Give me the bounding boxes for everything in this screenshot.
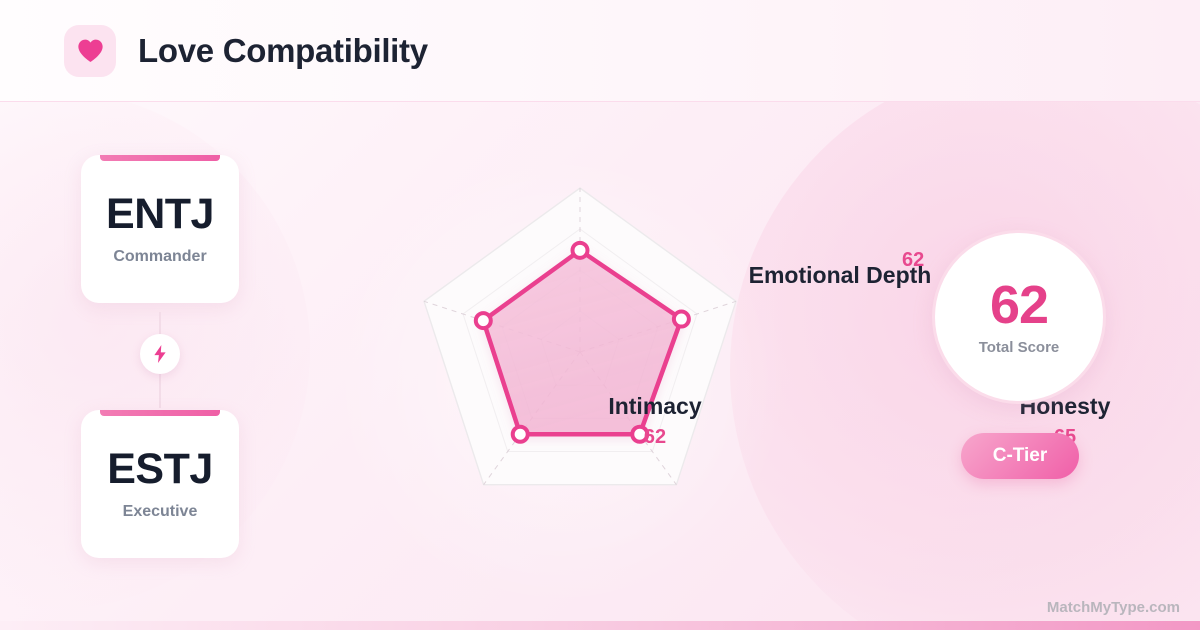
card-accent-bar bbox=[100, 155, 220, 161]
mbti-code-second: ESTJ bbox=[107, 448, 213, 491]
axis-value-emotional-depth: 62 bbox=[902, 248, 924, 273]
mbti-code-first: ENTJ bbox=[106, 193, 214, 236]
header-bar: Love Compatibility bbox=[0, 0, 1200, 102]
axis-label-emotional-depth: Emotional Depth 62 bbox=[710, 232, 970, 318]
axis-value-intimacy: 62 bbox=[565, 425, 745, 450]
radar-chart: Emotional Depth 62 Honesty 65 Commitment… bbox=[280, 110, 900, 610]
mbti-card-first[interactable]: ENTJ Commander bbox=[81, 155, 239, 303]
axis-label-text: Intimacy bbox=[608, 393, 701, 419]
mbti-name-first: Commander bbox=[113, 248, 206, 266]
card-accent-bar bbox=[100, 410, 220, 416]
mbti-card-second[interactable]: ESTJ Executive bbox=[81, 410, 239, 558]
tier-badge: C-Tier bbox=[961, 433, 1079, 479]
mbti-name-second: Executive bbox=[123, 503, 198, 521]
axis-label-intimacy: Intimacy 62 bbox=[565, 363, 745, 478]
total-score-value: 62 bbox=[990, 278, 1048, 332]
bottom-accent-bar bbox=[0, 621, 1200, 630]
page-title: Love Compatibility bbox=[138, 32, 428, 70]
infographic-canvas: Love Compatibility ENTJ Commander ESTJ E… bbox=[0, 0, 1200, 630]
total-score-circle: 62 Total Score bbox=[932, 230, 1106, 404]
total-score-caption: Total Score bbox=[979, 339, 1060, 356]
lightning-bolt-icon bbox=[140, 334, 180, 374]
heart-icon bbox=[64, 25, 116, 77]
watermark: MatchMyType.com bbox=[1047, 599, 1180, 616]
